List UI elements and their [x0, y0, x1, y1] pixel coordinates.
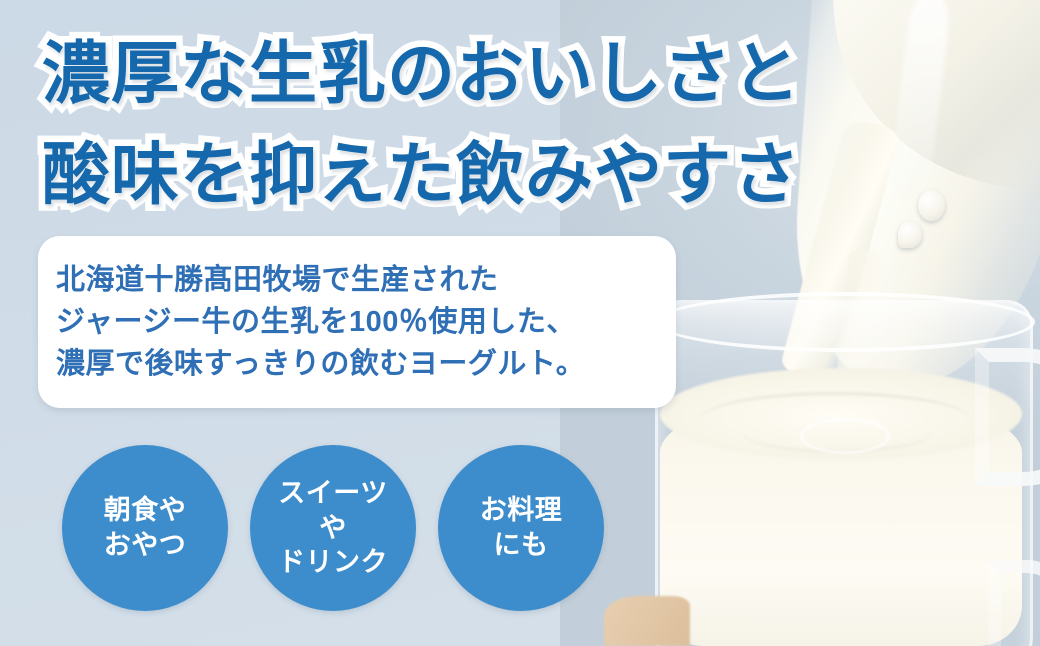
usage-badge-line: お料理	[480, 493, 563, 528]
usage-badge-line: にも	[494, 528, 549, 563]
glass-carafe-handle	[975, 348, 1040, 486]
milk-droplet-icon	[898, 221, 922, 248]
description-line-1: 北海道十勝髙田牧場で生産された	[56, 259, 658, 301]
usage-badge-line: スイーツ	[278, 476, 387, 511]
usage-badge-breakfast-snack: 朝食や おやつ	[62, 445, 228, 611]
usage-badges: 朝食や おやつ スイーツ や ドリンク お料理 にも	[62, 445, 604, 611]
glass-carafe-rim	[655, 292, 1035, 352]
wooden-table-surface	[604, 596, 690, 646]
product-promo-banner: 濃厚な生乳のおいしさと 酸味を抑えた飲みやすさ 北海道十勝髙田牧場で生産された …	[0, 0, 1040, 646]
headline: 濃厚な生乳のおいしさと 酸味を抑えた飲みやすさ	[42, 24, 801, 225]
usage-badge-line: ドリンク	[278, 545, 388, 580]
usage-badge-line: 朝食や	[104, 493, 187, 528]
usage-badge-sweets-drink: スイーツ や ドリンク	[250, 445, 416, 611]
description-line-3: 濃厚で後味すっきりの飲むヨーグルト。	[56, 343, 658, 385]
usage-badge-line: おやつ	[104, 528, 187, 563]
glass-carafe-handle-lower	[988, 560, 1040, 646]
usage-badge-line: や	[319, 511, 347, 546]
headline-line-2: 酸味を抑えた飲みやすさ	[42, 125, 801, 226]
usage-badge-cooking: お料理 にも	[438, 445, 604, 611]
description-line-2: ジャージー牛の生乳を100％使用した、	[56, 301, 658, 343]
headline-line-1: 濃厚な生乳のおいしさと	[42, 24, 801, 125]
milk-droplet-icon	[918, 190, 945, 221]
description-card: 北海道十勝髙田牧場で生産された ジャージー牛の生乳を100％使用した、 濃厚で後…	[38, 236, 676, 408]
milk-splash-ring	[800, 418, 890, 454]
